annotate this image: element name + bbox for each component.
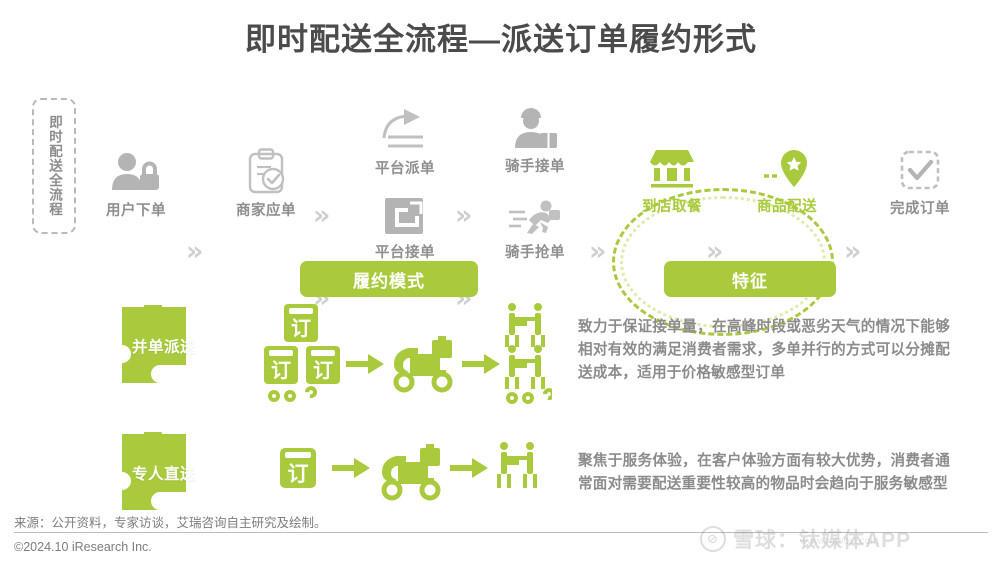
arrow-1: [332, 458, 370, 478]
svg-text:订: 订: [313, 359, 333, 382]
arrow-1: [346, 354, 384, 374]
source-note: 来源：公开资料，专家访谈，艾瑞咨询自主研究及绘制。: [14, 512, 327, 531]
watermark-logo-icon: ⊘: [700, 526, 726, 552]
storefront-icon: [624, 138, 720, 192]
map-pin-icon: [739, 138, 835, 192]
flow-node-merchant-accept[interactable]: 商家应单: [218, 142, 314, 220]
chevron-1: »: [186, 238, 200, 265]
copyright-note: ©2024.10 iResearch Inc.: [14, 540, 152, 554]
flow-node-store-pickup[interactable]: 到店取餐: [624, 138, 720, 216]
puzzle-label-text: 专人直送: [132, 462, 228, 484]
flow-node-order-complete[interactable]: 完成订单: [872, 140, 968, 218]
column-header-feature: 特征: [664, 261, 836, 297]
watermark-url: www.tmtpost.com: [800, 536, 878, 547]
chevron-6: »: [589, 238, 603, 265]
flow-node-platform-assign[interactable]: 平台派单: [357, 100, 453, 178]
clipboard-check-icon: [218, 142, 314, 196]
column-header-mode: 履约模式: [300, 261, 478, 297]
arrow-2: [462, 354, 500, 374]
process-flow: 即时配送全流程 » » » » » » » » 用户下单: [0, 92, 1002, 252]
running-rider-icon: [487, 184, 583, 238]
flow-node-label: 用户下单: [88, 199, 184, 220]
handoff-icon: [497, 442, 537, 488]
flow-vertical-label: 即时配送全流程: [32, 98, 76, 234]
svg-text:订: 订: [291, 317, 311, 340]
check-box-icon: [872, 140, 968, 194]
svg-text:订: 订: [271, 359, 291, 382]
diagram-batch-dispatch: 订 订 订: [262, 302, 552, 412]
feature-text-dedicated: 聚焦于服务体验，在客户体验方面有较大优势，消费者通常面对需要配送重要性较高的物品…: [578, 450, 950, 496]
svg-text:订: 订: [288, 463, 309, 486]
page-title: 即时配送全流程—派送订单履约形式: [0, 14, 1002, 59]
arrow-2: [450, 458, 488, 478]
flow-node-label: 完成订单: [872, 197, 968, 218]
hand-grab-icon: [357, 184, 453, 238]
flow-node-label: 骑手抢单: [487, 241, 583, 262]
flow-node-label: 商品配送: [739, 195, 835, 216]
flow-node-label: 到店取餐: [624, 195, 720, 216]
chevron-4: »: [455, 202, 469, 229]
flow-node-label: 平台接单: [357, 241, 453, 262]
feature-text-batch: 致力于保证接单量，在高峰时段或恶劣天气的情况下能够相对有效的满足消费者需求，多单…: [578, 316, 950, 385]
flow-node-goods-delivery[interactable]: 商品配送: [739, 138, 835, 216]
share-arrow-icon: [357, 100, 453, 154]
scooter-icon: [382, 444, 440, 498]
rider-box-icon: [487, 98, 583, 152]
puzzle-label-batch[interactable]: 并单派送: [108, 305, 208, 389]
order-card: 订: [284, 304, 318, 342]
flow-node-rider-accept[interactable]: 骑手接单: [487, 98, 583, 176]
flow-node-label: 商家应单: [218, 199, 314, 220]
puzzle-label-dedicated[interactable]: 专人直送: [108, 432, 208, 516]
chevron-2: »: [313, 202, 327, 229]
diagram-dedicated-delivery: 订: [262, 440, 552, 502]
flow-node-platform-accept[interactable]: 平台接单: [357, 184, 453, 262]
flow-node-label: 骑手接单: [487, 155, 583, 176]
slide-root: 即时配送全流程—派送订单履约形式 即时配送全流程 » » » » » » » »…: [0, 0, 1002, 565]
user-lock-icon: [88, 142, 184, 196]
flow-node-rider-grab[interactable]: 骑手抢单: [487, 184, 583, 262]
scooter-icon: [394, 336, 452, 390]
puzzle-label-text: 并单派送: [132, 335, 228, 357]
order-card: 订: [280, 448, 316, 488]
flow-node-label: 平台派单: [357, 157, 453, 178]
chevron-8: »: [844, 238, 858, 265]
handoff-icon: [505, 303, 545, 347]
flow-node-user-order[interactable]: 用户下单: [88, 142, 184, 220]
